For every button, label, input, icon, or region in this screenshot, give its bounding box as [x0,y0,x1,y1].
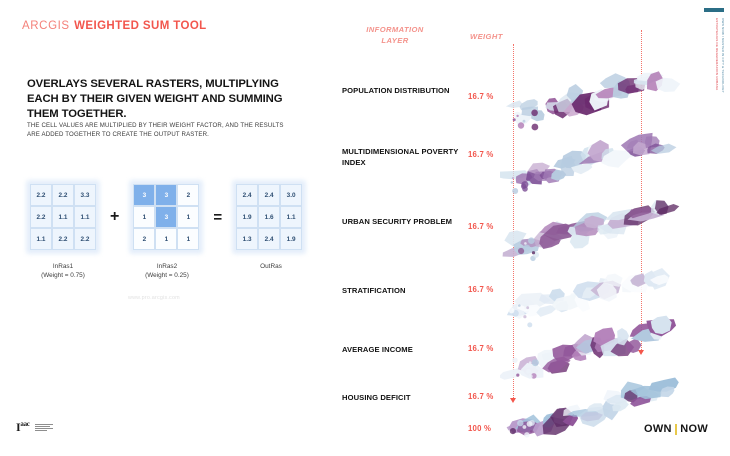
arcgis-watermark: www.pro.arcgis.com [128,295,180,301]
own-now-separator [675,424,678,435]
raster-cell: 3 [133,184,155,206]
raster-caption-inras1: InRas1 (Weight = 0.75) [18,262,108,281]
raster-cell: 1 [177,228,199,250]
plus-operator: + [96,209,133,225]
raster-caption-outras: OutRas [226,262,316,271]
layer-label-urban-security-problem: URBAN SECURITY PROBLEM [342,216,482,227]
raster-inras1: 2.22.23.32.21.11.11.12.22.2 [30,184,96,250]
weighted-sum-diagram: 2.22.23.32.21.11.11.12.22.2 + 332131211 … [30,184,315,299]
raster-weight: (Weight = 0.75) [18,271,108,280]
sidebar-vertical-text-blue: OWN NOW / MASTER IN CITY & TECHNOLOGY [721,18,725,178]
raster-cell: 2.4 [236,184,258,206]
raster-cell: 2 [133,228,155,250]
raster-weight: (Weight = 0.25) [122,271,212,280]
layer-label-multidimensional-poverty-index: MULTIDIMENSIONAL POVERTY INDEX [342,146,482,168]
raster-caption-inras2: InRas2 (Weight = 0.25) [122,262,212,281]
raster-name: InRas1 [18,262,108,271]
layer-weight-multidimensional-poverty-index: 16.7 % [468,150,493,159]
slide-title: ARCGIS WEIGHTED SUM TOOL [22,16,207,34]
raster-cell: 3.0 [280,184,302,206]
layer-label-population-distribution: POPULATION DISTRIBUTION [342,85,482,96]
now-word: NOW [680,423,708,435]
map-thumbnail-housing-deficit [500,370,685,448]
raster-cell: 1.9 [236,206,258,228]
raster-equation-row: 2.22.23.32.21.11.11.12.22.2 + 332131211 … [30,184,302,250]
raster-cell: 1.1 [280,206,302,228]
iaac-logo-lines [35,423,53,432]
sidebar-accent-bar [704,8,724,12]
column-header-information-layer: INFORMATION LAYER [352,24,438,46]
total-weight-value: 100 % [468,424,491,433]
layer-weight-urban-security-problem: 16.7 % [468,222,493,231]
raster-grid: 2.42.43.01.91.61.11.32.41.9 [236,184,302,250]
raster-cell: 3.3 [74,184,96,206]
column-header-weight: WEIGHT [470,31,503,42]
raster-cell: 1.9 [280,228,302,250]
raster-cell: 2.4 [258,228,280,250]
title-bold-part: WEIGHTED SUM TOOL [74,20,206,32]
raster-name: InRas2 [122,262,212,271]
raster-cell: 1 [177,206,199,228]
raster-grid: 2.22.23.32.21.11.11.12.22.2 [30,184,96,250]
layer-weight-stratification: 16.7 % [468,285,493,294]
raster-cell: 1.1 [30,228,52,250]
sidebar-vertical-text-red: ESTRATEGIAS DE REGENERACION URBANA [715,18,719,178]
raster-cell: 3 [155,206,177,228]
raster-cell: 2.2 [30,184,52,206]
layer-label-stratification: STRATIFICATION [342,285,482,296]
raster-outras: 2.42.43.01.91.61.11.32.41.9 [236,184,302,250]
map-thumbnail-multidimensional-poverty-index [500,120,685,198]
layer-weight-housing-deficit: 16.7 % [468,392,493,401]
raster-cell: 2.2 [30,206,52,228]
raster-name: OutRas [226,262,316,271]
subheadline-text: THE CELL VALUES ARE MULTIPLIED BY THEIR … [27,122,289,139]
layer-label-average-income: AVERAGE INCOME [342,344,482,355]
raster-cell: 1.1 [52,206,74,228]
raster-cell: 2.4 [258,184,280,206]
equals-operator: = [199,210,236,225]
raster-cell: 2.2 [74,228,96,250]
iaac-logo: Iaac [16,421,53,433]
layer-weight-average-income: 16.7 % [468,344,493,353]
own-now-logo: OWN NOW [644,423,708,435]
vertical-sidebar: ESTRATEGIAS DE REGENERACION URBANA OWN N… [704,8,724,188]
title-light-part: ARCGIS [22,20,70,32]
layer-label-housing-deficit: HOUSING DEFICIT [342,392,482,403]
raster-cell: 1.1 [74,206,96,228]
raster-inras2: 332131211 [133,184,199,250]
raster-cell: 2.2 [52,184,74,206]
raster-cell: 2 [177,184,199,206]
raster-cell: 3 [155,184,177,206]
map-thumbnail-column [500,18,685,433]
raster-cell: 1 [133,206,155,228]
raster-cell: 1.3 [236,228,258,250]
slide-canvas: ARCGIS WEIGHTED SUM TOOL OVERLAYS SEVERA… [0,0,730,456]
raster-cell: 2.2 [52,228,74,250]
raster-cell: 1 [155,228,177,250]
layer-weight-population-distribution: 16.7 % [468,92,493,101]
iaac-wordmark: Iaac [16,421,30,433]
own-word: OWN [644,423,672,435]
headline-text: OVERLAYS SEVERAL RASTERS, MULTIPLYING EA… [27,77,295,122]
raster-grid: 332131211 [133,184,199,250]
raster-cell: 1.6 [258,206,280,228]
